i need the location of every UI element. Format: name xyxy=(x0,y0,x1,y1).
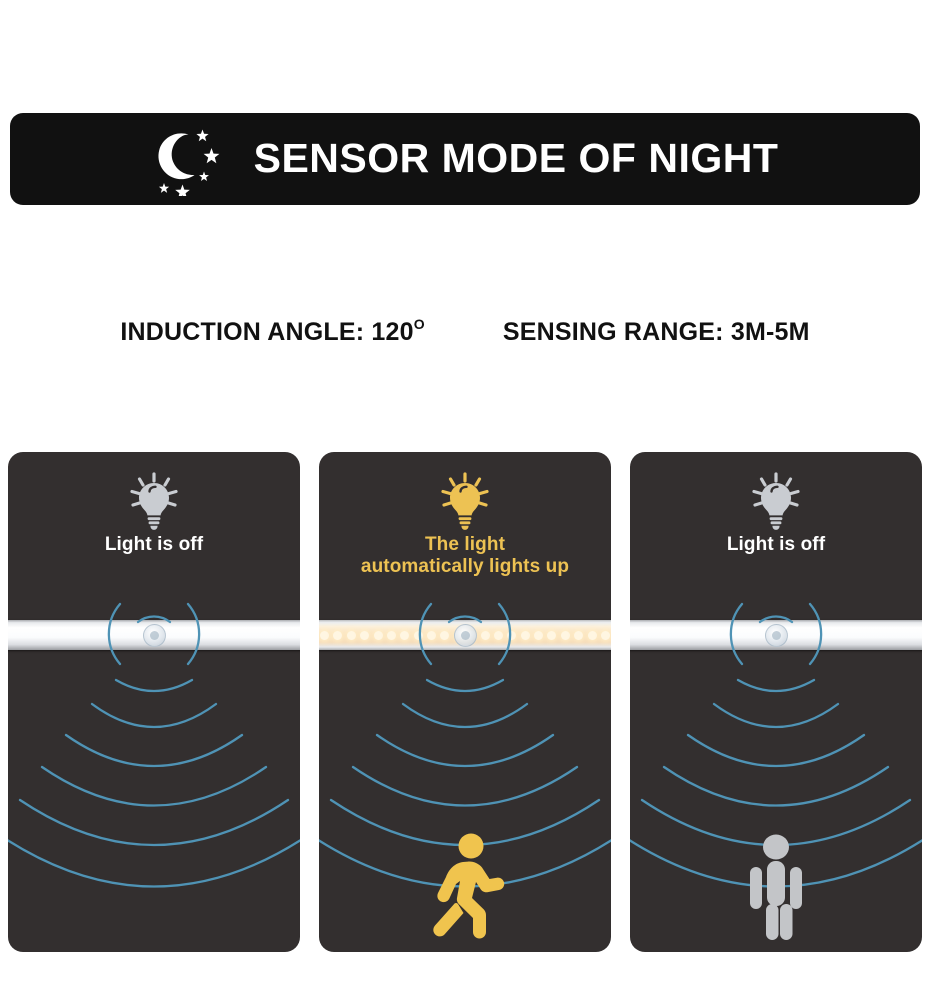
led xyxy=(440,631,449,640)
led xyxy=(494,631,503,640)
spec-list: INDUCTION ANGLE: 120O SENSING RANGE: 3M-… xyxy=(0,318,930,347)
led xyxy=(360,631,369,640)
led xyxy=(387,631,396,640)
led xyxy=(414,631,423,640)
status-line: The light xyxy=(325,534,605,556)
panel-group: Light is off xyxy=(8,452,922,952)
spec-induction-angle: INDUCTION ANGLE: 120O xyxy=(120,318,424,347)
spec-degree-symbol: O xyxy=(414,316,425,332)
led xyxy=(588,631,597,640)
status-line: Light is off xyxy=(636,534,916,556)
bulb-wrap xyxy=(630,472,922,532)
led xyxy=(507,631,516,640)
bulb-wrap xyxy=(8,472,300,532)
light-bar xyxy=(630,620,922,650)
header-banner: SENSOR MODE OF NIGHT xyxy=(10,113,920,205)
panel-light-off-idle: Light is off xyxy=(8,452,300,952)
led xyxy=(547,631,556,640)
lightbulb-icon xyxy=(436,472,494,532)
sensor-dome xyxy=(765,624,788,647)
led xyxy=(427,631,436,640)
standing-person-icon xyxy=(746,834,806,940)
status-label: The light automatically lights up xyxy=(319,534,611,579)
spec-sensing-range: SENSING RANGE: 3M-5M xyxy=(503,318,810,347)
moon-stars-icon xyxy=(142,124,228,196)
light-bar xyxy=(319,620,611,650)
spec-sensing-range-label: SENSING RANGE: 3M-5M xyxy=(503,318,810,346)
led xyxy=(574,631,583,640)
led xyxy=(320,631,329,640)
led xyxy=(400,631,409,640)
sensor-dome-inner xyxy=(150,631,159,640)
running-person-icon xyxy=(419,832,511,940)
light-bar xyxy=(8,620,300,650)
lightbulb-icon xyxy=(125,472,183,532)
panel-light-off-still: Light is off xyxy=(630,452,922,952)
led xyxy=(561,631,570,640)
page-title: SENSOR MODE OF NIGHT xyxy=(254,138,779,179)
sensor-dome-inner xyxy=(772,631,781,640)
led xyxy=(481,631,490,640)
led xyxy=(374,631,383,640)
led xyxy=(521,631,530,640)
bulb-wrap xyxy=(319,472,611,532)
panel-light-on-motion: The light automatically lights up xyxy=(319,452,611,952)
status-label: Light is off xyxy=(8,534,300,556)
sensor-dome xyxy=(143,624,166,647)
status-label: Light is off xyxy=(630,534,922,556)
led xyxy=(347,631,356,640)
sensor-dome-inner xyxy=(461,631,470,640)
lightbulb-icon xyxy=(747,472,805,532)
led xyxy=(333,631,342,640)
sensor-dome xyxy=(454,624,477,647)
status-line: Light is off xyxy=(14,534,294,556)
status-line: automatically lights up xyxy=(325,556,605,578)
spec-induction-angle-label: INDUCTION ANGLE: 120 xyxy=(120,318,413,346)
led xyxy=(534,631,543,640)
led xyxy=(601,631,610,640)
